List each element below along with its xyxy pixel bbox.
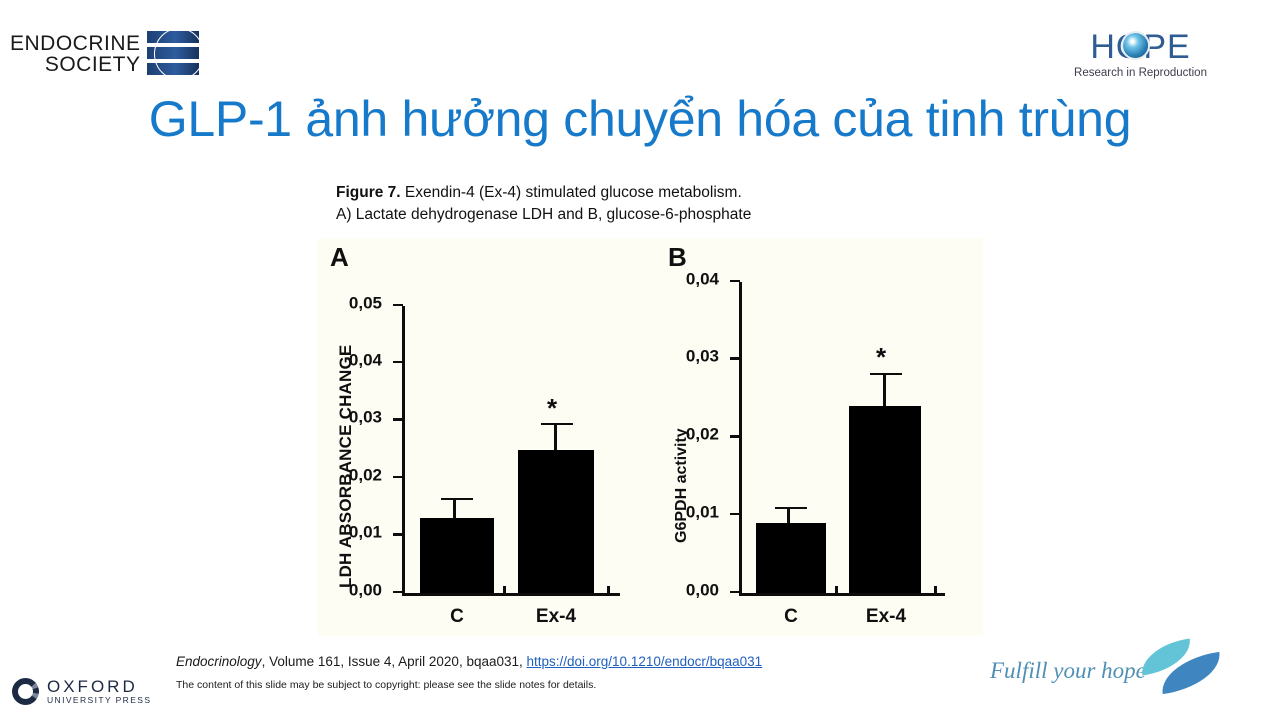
chart-panel-a: A LDH ABSORBANCE CHANGE 0,00 0,01 0,02 0… <box>318 238 648 636</box>
panel-b-ytick-label-4: 0,04 <box>686 269 719 289</box>
panel-b-xtick-mid <box>835 586 838 596</box>
endocrine-logo-line1: ENDOCRINE <box>10 33 141 54</box>
doi-link[interactable]: https://doi.org/10.1210/endocr/bqaa031 <box>527 654 763 669</box>
panel-a-xtick-right <box>607 586 610 596</box>
citation-details: , Volume 161, Issue 4, April 2020, bqaa0… <box>262 654 527 669</box>
figure-caption-line2: A) Lactate dehydrogenase LDH and B, gluc… <box>336 204 984 226</box>
panel-b-y-axis <box>739 282 742 596</box>
endocrine-society-wordmark: ENDOCRINE SOCIETY <box>10 33 141 75</box>
copyright-note: The content of this slide may be subject… <box>176 679 596 691</box>
panel-a-errorbar-ex4 <box>554 425 557 449</box>
panel-b-plot-area: 0,00 0,01 0,02 0,03 0,04 * C Ex-4 <box>739 282 945 596</box>
panel-a-ytick-label-1: 0,01 <box>349 523 382 543</box>
panel-a-ytick-label-3: 0,03 <box>349 408 382 428</box>
figure-caption-line1: Figure 7. Exendin-4 (Ex-4) stimulated gl… <box>336 182 984 204</box>
panel-a-ytick-4: 0,04 <box>393 361 403 364</box>
panel-a-ytick-3: 0,03 <box>393 418 403 421</box>
panel-a-ytick-label-2: 0,02 <box>349 465 382 485</box>
oup-line1: OXFORD <box>47 678 151 696</box>
oup-line2: UNIVERSITY PRESS <box>47 696 151 705</box>
oup-swirl-icon <box>12 678 39 705</box>
panel-b-letter: B <box>668 242 687 273</box>
panel-a-xlabel-ex4: Ex-4 <box>536 606 576 628</box>
panel-b-ytick-label-2: 0,02 <box>686 425 719 445</box>
figure-caption-text: Exendin-4 (Ex-4) stimulated glucose meta… <box>405 184 742 201</box>
panel-b-ytick-label-0: 0,00 <box>686 580 719 600</box>
panel-b-ytick-label-3: 0,03 <box>686 347 719 367</box>
panel-a-errorcap-ex4 <box>541 423 573 426</box>
panel-a-ytick-label-5: 0,05 <box>349 293 382 313</box>
panel-a-ytick-label-0: 0,00 <box>349 580 382 600</box>
citation-line: Endocrinology, Volume 161, Issue 4, Apri… <box>176 654 762 669</box>
panel-a-errorbar-c <box>453 500 456 518</box>
panel-b-xlabel-ex4: Ex-4 <box>866 606 906 628</box>
panel-a-xlabel-c: C <box>450 606 464 628</box>
endocrine-society-logo: ENDOCRINE SOCIETY <box>10 26 210 82</box>
globe-arc <box>154 28 204 80</box>
panel-a-letter: A <box>330 242 349 273</box>
figure-caption: Figure 7. Exendin-4 (Ex-4) stimulated gl… <box>336 182 984 226</box>
panel-b-y-axis-title: G6PDH activity <box>673 428 691 543</box>
hope-tagline: Research in Reproduction <box>1073 67 1208 79</box>
panel-b-ytick-4: 0,04 <box>730 280 740 283</box>
panel-b-ytick-0: 0,00 <box>730 591 740 594</box>
page-title: GLP-1 ảnh hưởng chuyển hóa của tinh trùn… <box>0 90 1280 148</box>
panel-a-bar-ex4 <box>518 450 594 594</box>
endocrine-logo-line2: SOCIETY <box>45 54 141 75</box>
panel-a-x-axis <box>402 593 620 596</box>
oup-wordmark: OXFORD UNIVERSITY PRESS <box>47 678 151 705</box>
panel-b-xtick-right <box>934 586 937 596</box>
panel-a-ytick-1: 0,01 <box>393 533 403 536</box>
panel-a-errorcap-c <box>441 498 473 501</box>
panel-a-ytick-2: 0,02 <box>393 476 403 479</box>
fulfill-your-hope-logo: Fulfill your hope <box>990 640 1218 700</box>
figure-image: A LDH ABSORBANCE CHANGE 0,00 0,01 0,02 0… <box>318 238 983 636</box>
panel-b-bar-ex4 <box>849 406 921 593</box>
chart-panel-b: B G6PDH activity 0,00 0,01 0,02 0,03 0,0… <box>643 238 973 636</box>
panel-b-xlabel-c: C <box>784 606 798 628</box>
panel-a-significance-star: * <box>547 395 557 421</box>
panel-b-bar-c <box>756 523 826 593</box>
panel-a-bar-c <box>420 518 494 593</box>
figure-caption-label: Figure 7. <box>336 184 401 201</box>
panel-b-errorcap-ex4 <box>870 373 902 376</box>
panel-a-ytick-0: 0,00 <box>393 591 403 594</box>
panel-a-ytick-5: 0,05 <box>393 304 403 307</box>
panel-b-x-axis <box>739 593 945 596</box>
panel-a-ytick-label-4: 0,04 <box>349 351 382 371</box>
panel-a-y-axis <box>402 306 405 596</box>
panel-b-ytick-2: 0,02 <box>730 435 740 438</box>
panel-b-ytick-1: 0,01 <box>730 513 740 516</box>
hope-logo: HOPE Research in Reproduction <box>1073 30 1208 79</box>
globe-icon <box>147 30 199 78</box>
panel-a-xtick-mid <box>503 586 506 596</box>
panel-b-significance-star: * <box>876 344 886 370</box>
oxford-university-press-logo: OXFORD UNIVERSITY PRESS <box>12 678 151 705</box>
journal-name: Endocrinology <box>176 654 262 669</box>
hope-wordmark: HOPE <box>1090 30 1190 64</box>
panel-b-ytick-label-1: 0,01 <box>686 502 719 522</box>
panel-a-plot-area: 0,00 0,01 0,02 0,03 0,04 0,05 * C Ex-4 <box>402 306 620 596</box>
panel-b-ytick-3: 0,03 <box>730 357 740 360</box>
panel-b-errorbar-c <box>787 509 790 523</box>
fulfill-your-hope-text: Fulfill your hope <box>990 658 1146 684</box>
panel-b-errorcap-c <box>775 507 807 510</box>
panel-b-errorbar-ex4 <box>883 375 886 406</box>
